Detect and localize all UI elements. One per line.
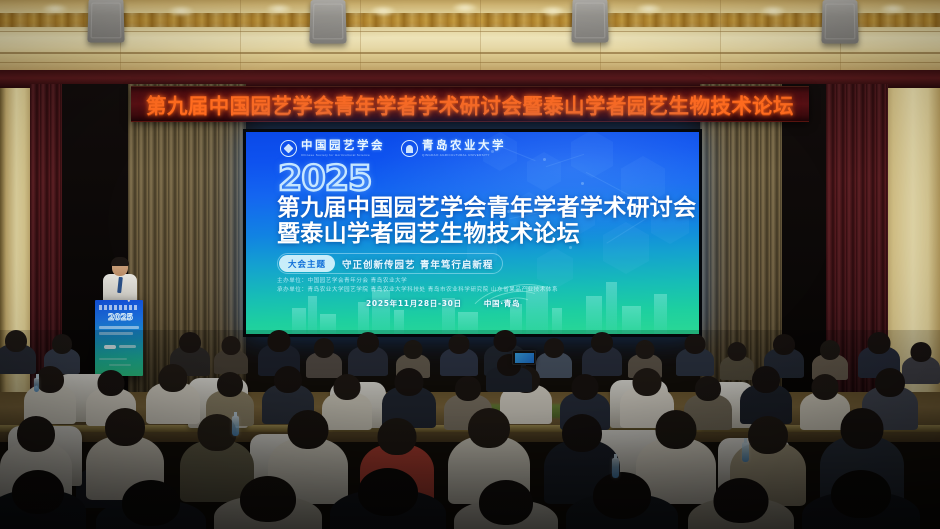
screen-title-line1: 第九届中国园艺学会青年学者学术研讨会 (277, 197, 696, 220)
screen-theme-row: 大会主题 守正创新传园艺 青年笃行启新程 (277, 253, 503, 274)
ceiling-seam (0, 52, 940, 54)
ceiling-loudspeaker (821, 0, 858, 44)
led-screen: 中国园艺学会 Chinese Society for Horticultural… (243, 129, 702, 337)
screen-date-location: 2025年11月28日-30日 中国·青岛 (366, 298, 520, 309)
screen-year: 2025 (278, 162, 371, 197)
presenter-hair (111, 257, 129, 266)
ceiling-downlight (370, 6, 396, 16)
banner-title-text: 第九届中国园艺学会青年学者学术研讨会暨泰山学者园艺生物技术论坛 (146, 89, 794, 119)
ceiling-downlight (880, 4, 906, 14)
organizer-line-1: 主办单位：中国园艺学会青年分会 青岛农业大学 (277, 276, 407, 284)
ceiling-downlight (266, 4, 292, 14)
logo-qingdao-agricultural-university: 青岛农业大学 QINGDAO AGRICULTURAL UNIVERSITY (401, 140, 506, 157)
microphone-icon (124, 300, 130, 302)
ceiling-seam (0, 31, 940, 32)
ceiling-downlight (42, 4, 68, 14)
event-banner: 第九届中国园艺学会青年学者学术研讨会暨泰山学者园艺生物技术论坛 (131, 86, 809, 122)
ceiling-loudspeaker (309, 0, 346, 44)
logo-name-cn: 青岛农业大学 (422, 140, 506, 152)
podium-logo-strip (99, 305, 139, 310)
qau-emblem-icon (401, 140, 418, 157)
ceiling-loudspeaker (571, 0, 608, 43)
theme-slogan-text: 守正创新传园艺 青年笃行启新程 (342, 257, 493, 271)
ceiling-seam (0, 62, 940, 63)
logo-chinese-society-horticultural-science: 中国园艺学会 Chinese Society for Horticultural… (280, 140, 385, 157)
logo-name-cn: 中国园艺学会 (301, 140, 385, 152)
ceiling-downlight (760, 6, 786, 16)
logo-name-en: QINGDAO AGRICULTURAL UNIVERSITY (422, 154, 504, 157)
podium-year: 2025 (108, 313, 133, 323)
audience-shadow-overlay (0, 330, 940, 529)
screen-logo-row: 中国园艺学会 Chinese Society for Horticultural… (280, 140, 506, 157)
auditorium-photo: 第九届中国园艺学会青年学者学术研讨会暨泰山学者园艺生物技术论坛 (0, 0, 940, 529)
audience-area (0, 330, 940, 529)
event-location: 中国·青岛 (484, 298, 520, 309)
csh-emblem-icon (280, 140, 297, 157)
ceiling-downlight (168, 6, 194, 16)
ceiling-ornamental-frieze (0, 13, 940, 27)
podium-title-line (99, 326, 139, 329)
event-date: 2025年11月28日-30日 (366, 298, 462, 309)
ceiling-downlight (452, 3, 478, 13)
ceiling-downlight (636, 4, 662, 14)
ceiling-downlight (540, 6, 566, 16)
screen-title-line2: 暨泰山学者园艺生物技术论坛 (277, 223, 580, 246)
presenter-at-podium (103, 258, 137, 304)
theme-label-badge: 大会主题 (279, 255, 335, 272)
ceiling-loudspeaker (87, 0, 124, 43)
logo-name-en: Chinese Society for Horticultural Scienc… (301, 154, 383, 157)
organizer-line-2: 承办单位：青岛农业大学园艺学院 青岛农业大学科技处 青岛市农业科学研究院 山东省… (277, 285, 558, 293)
